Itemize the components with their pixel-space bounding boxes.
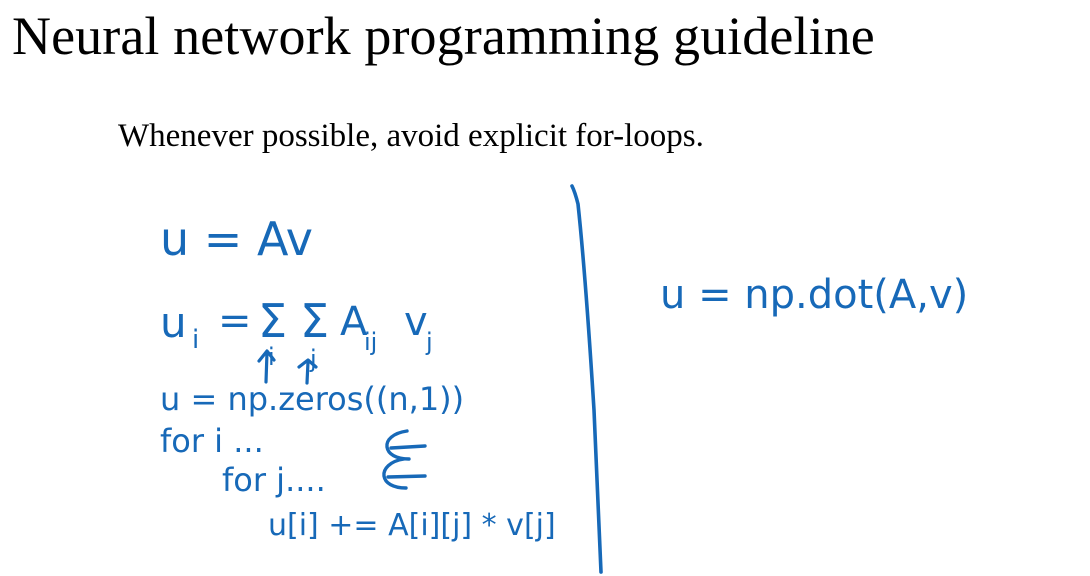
equation-u-equals-Av: u = Av [160, 212, 313, 266]
code-line-accumulate: u[i] += A[i][j] * v[j] [268, 508, 556, 543]
slide-canvas: Neural network programming guideline Whe… [0, 0, 1090, 576]
equation-u-equals-Av-text: u = Av [160, 212, 313, 266]
sigma-inner: Σ [300, 294, 329, 348]
vector-term-v: v [404, 299, 428, 345]
callout-arrow-icon-for-i [387, 431, 425, 459]
summation-lhs-u: u [160, 298, 187, 347]
matrix-term-A-subscript-ij: ij [364, 328, 377, 356]
sigma-inner-index-j: j [309, 345, 317, 373]
vertical-divider [572, 186, 601, 572]
loop-callout-arrows [384, 431, 425, 488]
summation-lhs-subscript-i: i [192, 325, 199, 355]
callout-arrow-icon-for-j [384, 459, 425, 488]
vector-term-v-subscript-j: j [425, 328, 433, 356]
code-line-for-i: for i ... [160, 422, 264, 460]
index-arrows [259, 351, 316, 383]
sigma-outer: Σ [258, 294, 287, 348]
equation-vectorized-dot-text: u = np.dot(A,v) [660, 272, 968, 318]
equation-summation: u i = Σ i Σ j A ij v j [160, 294, 433, 373]
handwriting-annotation-layer: u = Av u i = Σ i Σ j A ij v j [0, 0, 1090, 576]
summation-equals-sign: = [218, 298, 252, 344]
code-block-naive-loop: u = np.zeros((n,1)) for i ... for j.... … [160, 380, 556, 543]
equation-vectorized-dot: u = np.dot(A,v) [660, 272, 968, 318]
code-line-zeros: u = np.zeros((n,1)) [160, 380, 464, 418]
code-line-for-j: for j.... [222, 461, 326, 499]
